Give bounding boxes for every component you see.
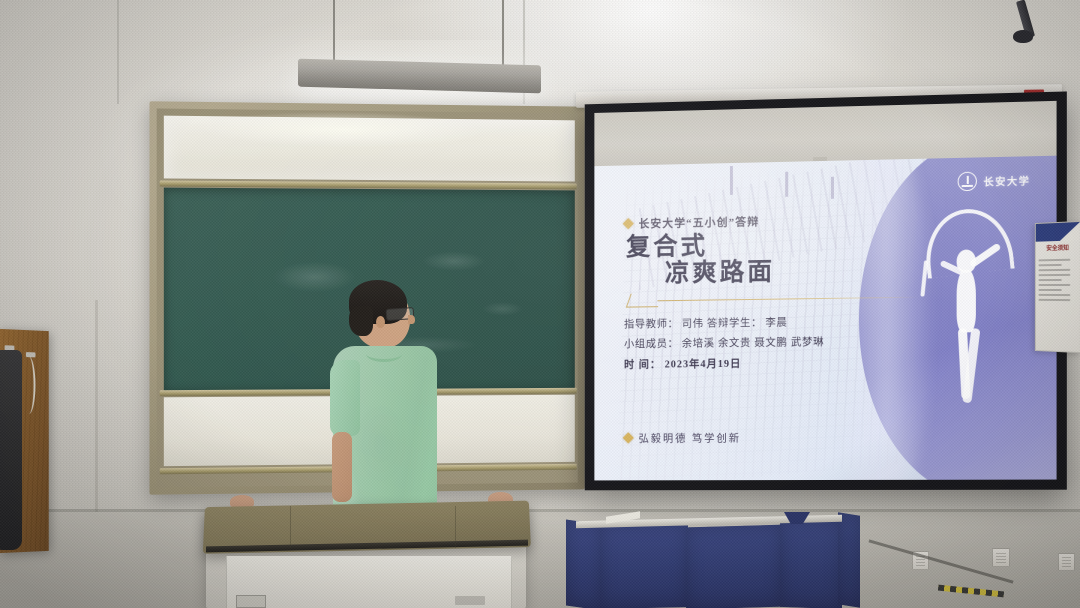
- notice-text-line: [1039, 289, 1063, 291]
- light-suspension-rod: [333, 0, 335, 66]
- desk-panel: [838, 512, 860, 607]
- shirt-sleeve: [330, 360, 360, 436]
- projector-head-icon: [1013, 30, 1033, 43]
- desk-panel: [600, 523, 688, 608]
- notice-header-band: [1036, 222, 1080, 242]
- university-seal-icon: [958, 172, 977, 192]
- notice-title: 安全须知: [1036, 240, 1080, 254]
- projection-screen: 长安大学 长安大学“五小创”答辩 复合式 凉爽路面 指导教师： 司伟 答辩学生：…: [585, 91, 1067, 490]
- wall-outlet-icon[interactable]: [1058, 553, 1075, 571]
- hanging-cloth: [0, 350, 22, 550]
- slide-kicker-text: 长安大学“五小创”答辩: [639, 213, 760, 231]
- diamond-bullet-icon: [622, 218, 633, 229]
- roof-spire-icon: [831, 177, 834, 199]
- person-hair-side: [349, 306, 373, 336]
- hanging-cable: [22, 356, 35, 414]
- notice-text-line: [1039, 269, 1071, 271]
- shirt-collar: [366, 346, 402, 362]
- dancer-silhouette-icon: [927, 208, 1014, 411]
- diamond-bullet-icon: [622, 433, 633, 444]
- lectern-logo-icon: [455, 596, 485, 605]
- roof-spire-icon: [730, 166, 733, 195]
- lectern-seam: [455, 506, 456, 548]
- desk-panel: [566, 519, 602, 608]
- notice-text-line: [1039, 294, 1071, 296]
- notice-text-line: [1039, 274, 1071, 276]
- wall-notice-poster: 安全须知: [1035, 221, 1080, 353]
- title-divider: [628, 289, 919, 307]
- person-nose: [408, 315, 415, 324]
- floor-wall-edge: [0, 509, 1080, 512]
- notice-text-line: [1039, 279, 1063, 281]
- divider-notch-icon: [625, 293, 662, 307]
- notice-text-line: [1039, 284, 1071, 286]
- roof-spire-icon: [785, 171, 788, 197]
- whiteboard-upper-panel: [164, 116, 575, 182]
- notice-text-line: [1039, 299, 1071, 301]
- person-arm: [332, 432, 352, 502]
- slide-footer: 弘毅明德 笃学创新: [624, 430, 741, 445]
- classroom-photo-scene: 长安大学 长安大学“五小创”答辩 复合式 凉爽路面 指导教师： 司伟 答辩学生：…: [0, 0, 1080, 608]
- notice-text-line: [1039, 264, 1063, 266]
- dancer-torso: [957, 270, 976, 333]
- light-suspension-rod: [502, 0, 504, 66]
- presenter-person: [330, 282, 442, 514]
- wall-seam: [117, 0, 119, 104]
- slide-meta-date: 时 间： 2023年4月19日: [624, 354, 927, 372]
- lectern-seam: [290, 506, 291, 548]
- slide-footer-text: 弘毅明德 笃学创新: [639, 430, 741, 445]
- desk-panel: [780, 519, 842, 608]
- lectern-control-label: [236, 595, 266, 608]
- person-ear: [376, 316, 385, 328]
- wall-outlet-icon[interactable]: [992, 548, 1010, 567]
- presentation-slide: 长安大学 长安大学“五小创”答辩 复合式 凉爽路面 指导教师： 司伟 答辩学生：…: [594, 156, 1056, 481]
- university-name: 长安大学: [984, 173, 1031, 189]
- university-logo: 长安大学: [958, 171, 1030, 192]
- slide-meta-date-text: 时 间： 2023年4月19日: [624, 359, 741, 371]
- screen-surface: 长安大学 长安大学“五小创”答辩 复合式 凉爽路面 指导教师： 司伟 答辩学生：…: [594, 101, 1056, 481]
- slide-meta-members: 小组成员： 余培溪 余文贵 聂文鹏 武梦琳: [624, 333, 927, 351]
- slide-text-block: 长安大学“五小创”答辩 复合式 凉爽路面 指导教师： 司伟 答辩学生： 李晨 小…: [624, 210, 927, 377]
- slide-title-line-2: 凉爽路面: [665, 257, 927, 289]
- desk-panel: [686, 525, 782, 608]
- slide-meta-advisor: 指导教师： 司伟 答辩学生： 李晨: [624, 312, 927, 331]
- notice-body: [1036, 253, 1080, 306]
- blue-partition-desks: [566, 506, 866, 608]
- notice-text-line: [1039, 259, 1071, 262]
